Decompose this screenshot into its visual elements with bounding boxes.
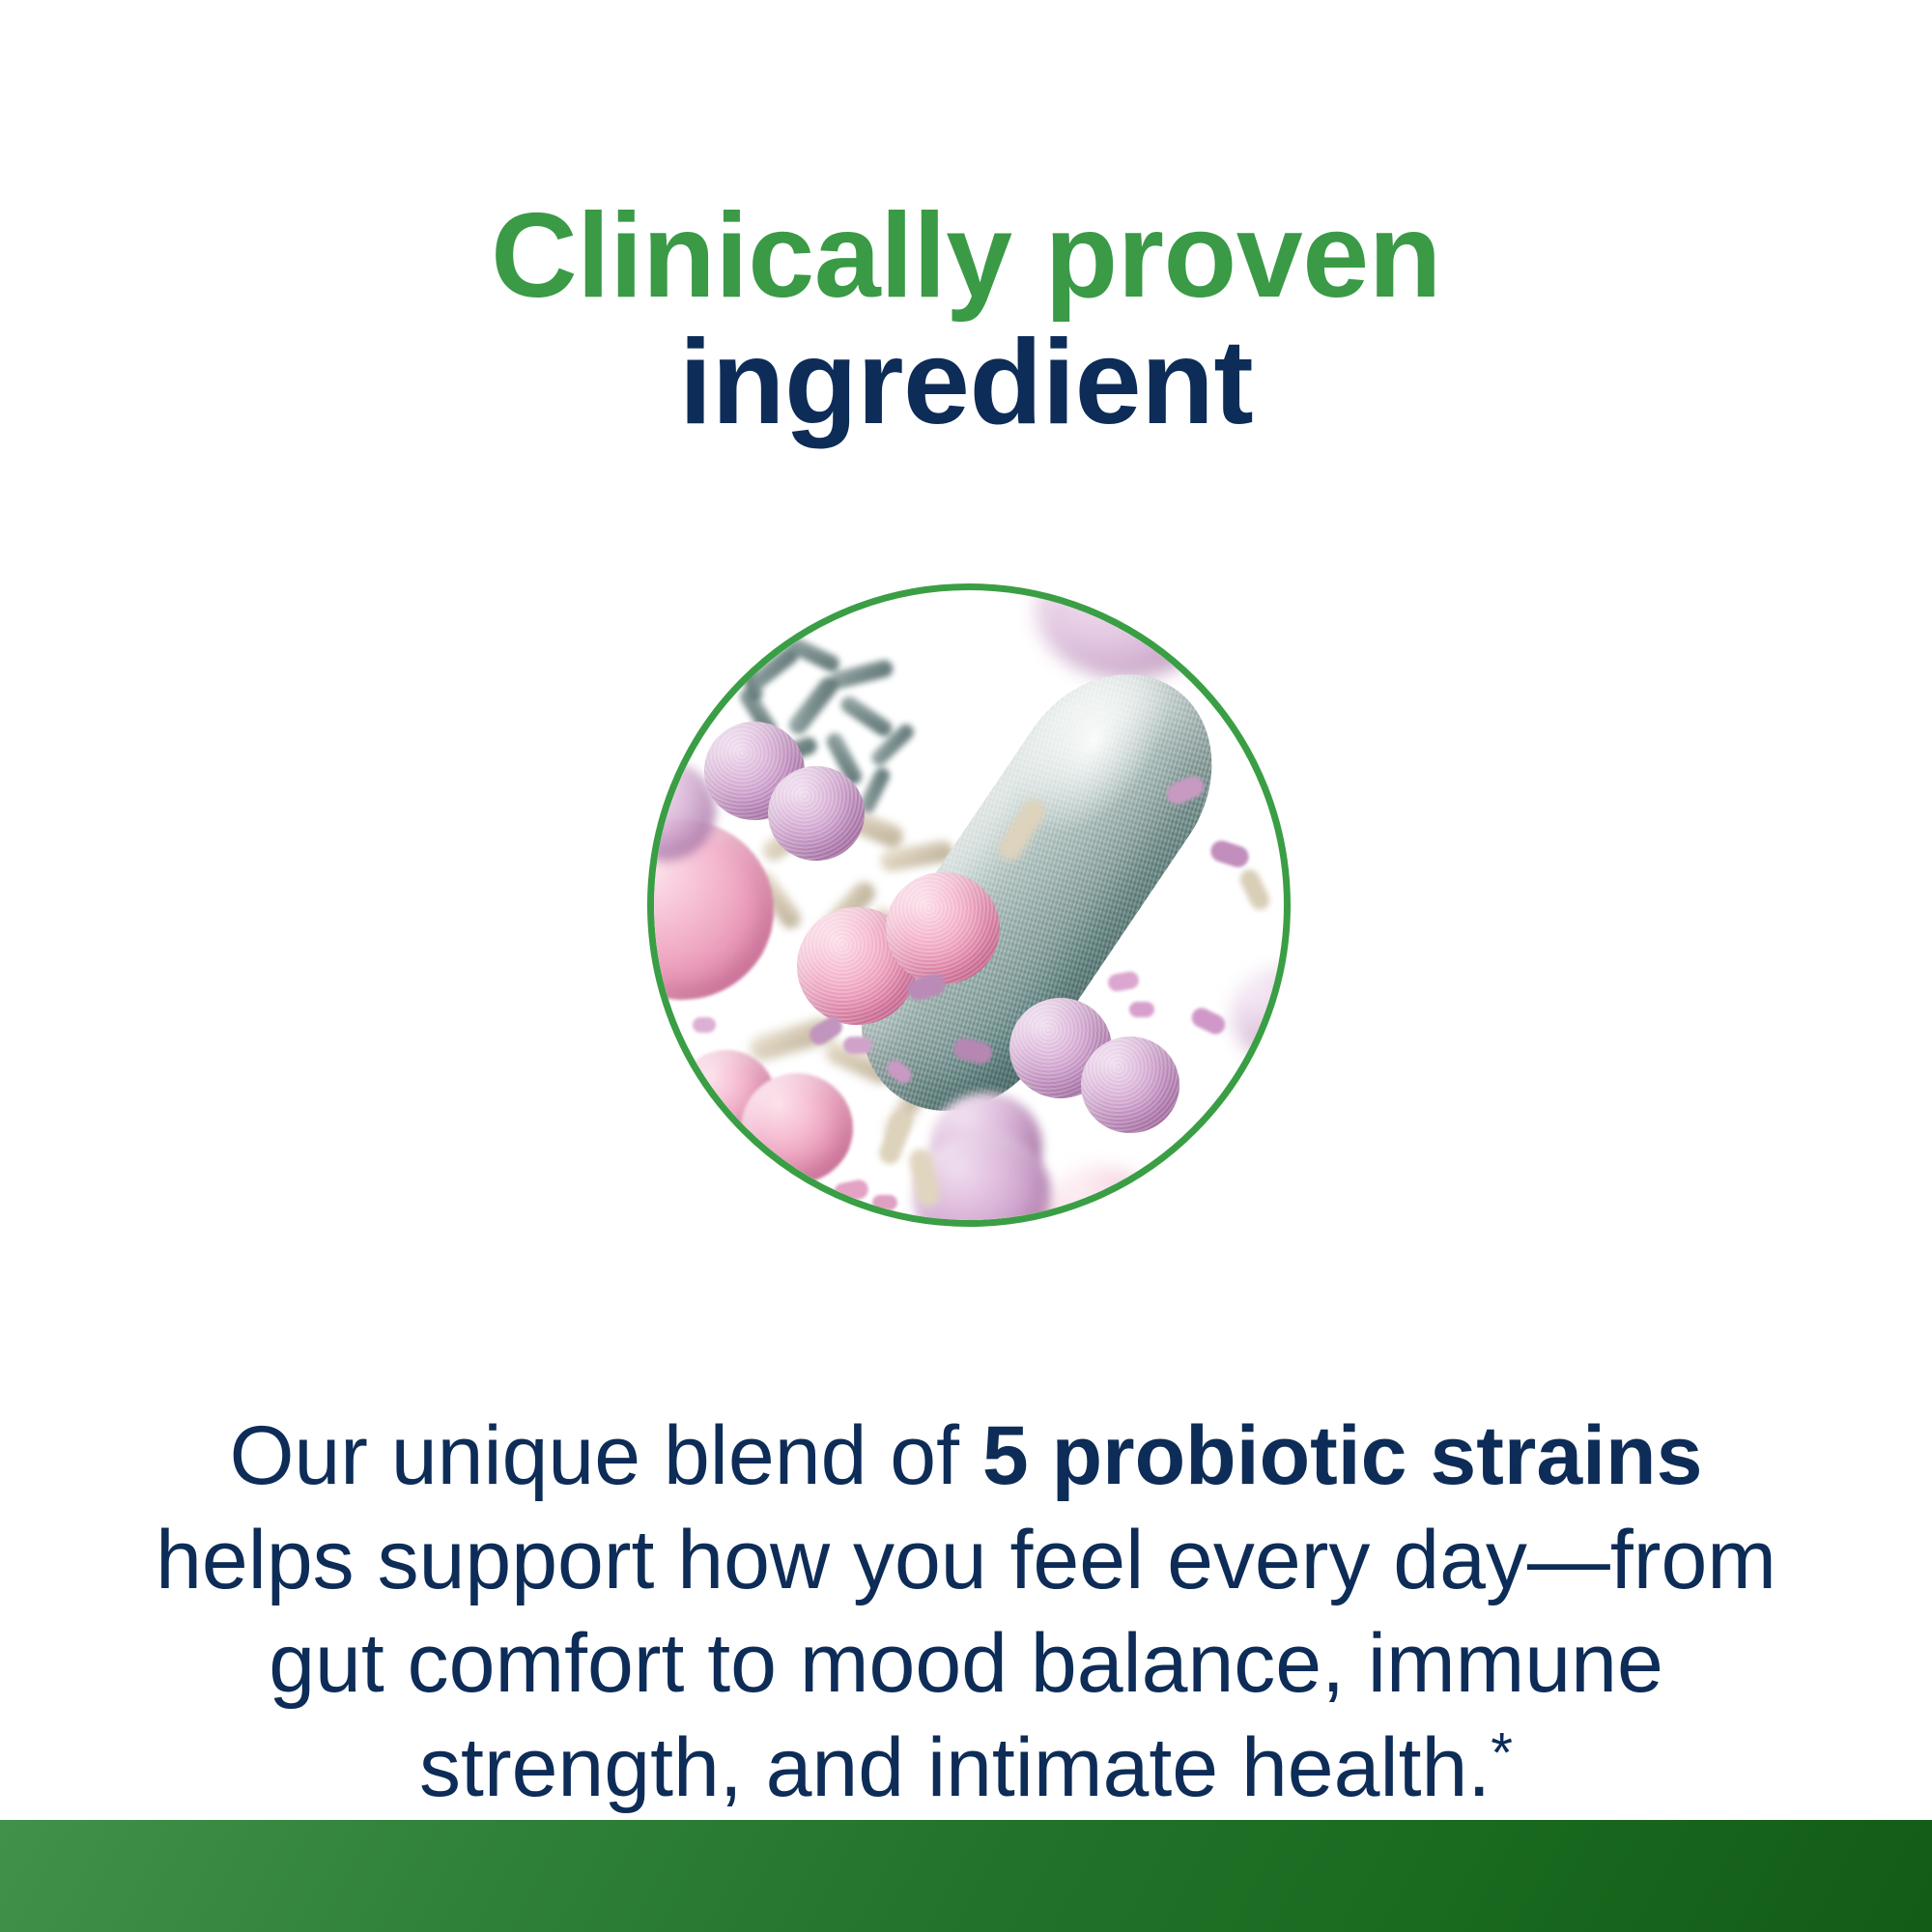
body-paragraph: Our unique blend of 5 probiotic strains … xyxy=(126,1405,1806,1820)
micro-dot-pair-5 xyxy=(1188,1005,1228,1037)
micro-dot-pair-2 xyxy=(1208,838,1252,869)
micro-rod-right-1 xyxy=(1236,867,1272,913)
micro-dot-pair-3 xyxy=(1107,970,1141,992)
mauve-coccus-right-edge xyxy=(1232,969,1284,1060)
micro-dot-pair-9 xyxy=(843,1037,872,1054)
hero-image-ring xyxy=(647,583,1291,1227)
mauve-coccus-right-b xyxy=(1081,1037,1179,1133)
micro-dot-pair-13 xyxy=(872,1195,897,1210)
bacteria-scene xyxy=(654,590,1284,1220)
headline-line-1: Clinically proven xyxy=(0,193,1932,320)
pink-coccus-bottom-edge xyxy=(1042,1166,1158,1220)
mauve-coccus-bg-top-right xyxy=(1035,590,1218,679)
footer-accent-bar xyxy=(0,1820,1932,1932)
page-title: Clinically proven ingredient xyxy=(0,193,1932,447)
micro-dot-pair-10 xyxy=(693,1017,716,1033)
body-text-accent: 5 probiotic strains xyxy=(982,1409,1703,1502)
pink-coccus-center-b xyxy=(886,872,1000,984)
micro-dot-pair-4 xyxy=(1129,1002,1154,1017)
mauve-coccus-upper-b xyxy=(768,766,865,861)
hero-image xyxy=(647,583,1291,1227)
pink-coccus-lower-left-b xyxy=(741,1073,853,1183)
marketing-card: Clinically proven ingredient xyxy=(0,0,1932,1932)
body-text-before-accent: Our unique blend of xyxy=(230,1409,982,1502)
disclaimer-asterisk: * xyxy=(1491,1721,1513,1784)
headline-line-2: ingredient xyxy=(0,320,1932,446)
body-text-after-accent: helps support how you feel every day—fro… xyxy=(156,1514,1776,1814)
